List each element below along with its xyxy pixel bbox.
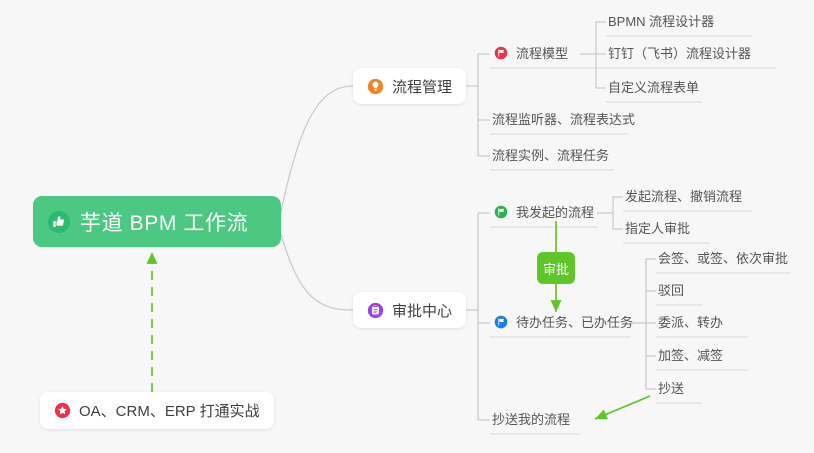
leaf-label-add-remove-sign: 加签、减签 bbox=[658, 349, 723, 362]
footer-node-label: OA、CRM、ERP 打通实战 bbox=[79, 400, 260, 421]
leaf-label-start-cancel-process: 发起流程、撤销流程 bbox=[625, 190, 742, 203]
leaf-process-model[interactable]: 流程模型 bbox=[494, 46, 568, 60]
leaf-add-remove-sign[interactable]: 加签、减签 bbox=[658, 349, 723, 362]
leaf-label-delegate-transfer: 委派、转办 bbox=[658, 316, 723, 329]
leaf-reject[interactable]: 驳回 bbox=[658, 284, 684, 297]
flag-icon bbox=[494, 315, 508, 329]
flag-icon bbox=[494, 46, 508, 60]
star-icon bbox=[54, 402, 71, 419]
leaf-instance-task[interactable]: 流程实例、流程任务 bbox=[492, 149, 609, 162]
leaf-bpmn-designer[interactable]: BPMN 流程设计器 bbox=[608, 15, 714, 28]
branch-label-process-management: 流程管理 bbox=[392, 76, 452, 97]
leaf-label-my-started-processes: 我发起的流程 bbox=[516, 206, 594, 219]
approval-pill: 审批 bbox=[537, 252, 575, 284]
leaf-label-instance-task: 流程实例、流程任务 bbox=[492, 149, 609, 162]
leaf-listener-expression[interactable]: 流程监听器、流程表达式 bbox=[492, 113, 635, 126]
branch-label-approval-center: 审批中心 bbox=[392, 300, 452, 321]
leaf-start-cancel-process[interactable]: 发起流程、撤销流程 bbox=[625, 190, 742, 203]
mindmap-canvas: 芋道 BPM 工作流 流程管理 流程模型 BPMN 流程设计器 钉钉（飞书）流程 bbox=[0, 0, 814, 453]
leaf-label-cc: 抄送 bbox=[658, 382, 684, 395]
root-label: 芋道 BPM 工作流 bbox=[80, 207, 248, 237]
approval-pill-label: 审批 bbox=[543, 259, 569, 278]
branch-node-approval-center[interactable]: 审批中心 bbox=[353, 292, 466, 328]
edge-root-to-process-management bbox=[281, 86, 353, 212]
clipboard-icon bbox=[367, 302, 384, 319]
leaf-label-reject: 驳回 bbox=[658, 284, 684, 297]
arrow-cc-to-cc-mine bbox=[595, 396, 650, 419]
thumbs-up-icon bbox=[47, 210, 71, 234]
leaf-cc-my-processes[interactable]: 抄送我的流程 bbox=[492, 413, 570, 426]
leaf-label-todo-done-tasks: 待办任务、已办任务 bbox=[516, 316, 633, 329]
flag-icon bbox=[494, 205, 508, 219]
leaf-delegate-transfer[interactable]: 委派、转办 bbox=[658, 316, 723, 329]
branch-node-process-management[interactable]: 流程管理 bbox=[353, 68, 466, 104]
leaf-label-countersign: 会签、或签、依次审批 bbox=[658, 252, 788, 265]
leaf-custom-form[interactable]: 自定义流程表单 bbox=[608, 81, 699, 94]
leaf-label-assigned-approver: 指定人审批 bbox=[625, 222, 690, 235]
lightbulb-icon bbox=[367, 78, 384, 95]
leaf-label-custom-form: 自定义流程表单 bbox=[608, 81, 699, 94]
edge-root-to-approval-center bbox=[281, 234, 353, 310]
leaf-label-cc-my-processes: 抄送我的流程 bbox=[492, 413, 570, 426]
leaf-label-listener-expression: 流程监听器、流程表达式 bbox=[492, 113, 635, 126]
leaf-countersign[interactable]: 会签、或签、依次审批 bbox=[658, 252, 788, 265]
footer-node[interactable]: OA、CRM、ERP 打通实战 bbox=[40, 392, 274, 429]
leaf-todo-done-tasks[interactable]: 待办任务、已办任务 bbox=[494, 315, 633, 329]
leaf-dingtalk-designer[interactable]: 钉钉（飞书）流程设计器 bbox=[608, 47, 751, 60]
leaf-label-bpmn-designer: BPMN 流程设计器 bbox=[608, 15, 714, 28]
root-node[interactable]: 芋道 BPM 工作流 bbox=[33, 196, 281, 247]
leaf-my-started-processes[interactable]: 我发起的流程 bbox=[494, 205, 594, 219]
leaf-cc[interactable]: 抄送 bbox=[658, 382, 684, 395]
leaf-assigned-approver[interactable]: 指定人审批 bbox=[625, 222, 690, 235]
leaf-label-process-model: 流程模型 bbox=[516, 47, 568, 60]
leaf-label-dingtalk-designer: 钉钉（飞书）流程设计器 bbox=[608, 47, 751, 60]
